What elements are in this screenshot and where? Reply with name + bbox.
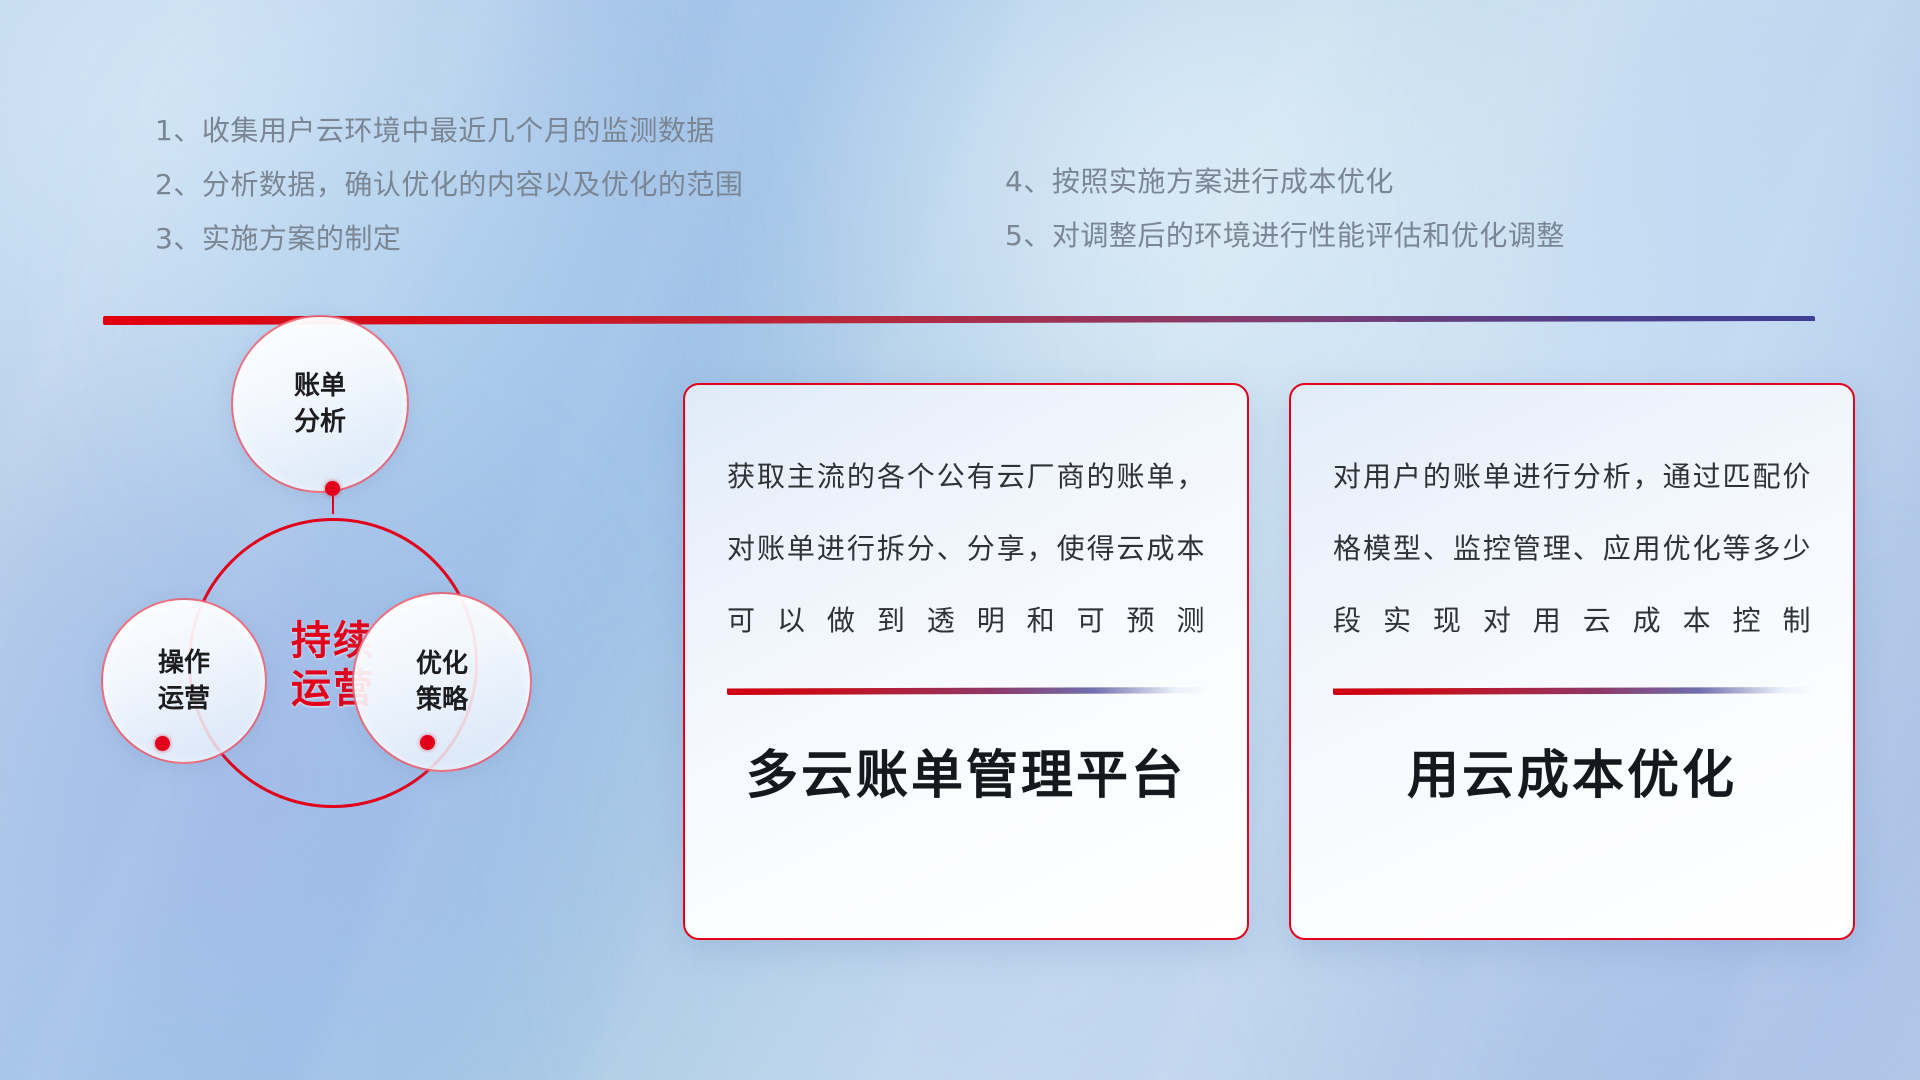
card-title: 多云账单管理平台	[727, 733, 1205, 808]
bubble-label-line1: 操作	[158, 645, 210, 681]
bubble-label-line2: 运营	[158, 681, 210, 717]
node-dot-top	[325, 481, 340, 496]
card-divider	[727, 687, 1209, 695]
card-divider	[1333, 687, 1815, 695]
bubble-optimization-strategy[interactable]: 优化 策略	[352, 592, 532, 772]
connector-tick-top	[332, 496, 334, 514]
card-multicloud-billing-platform[interactable]: 获取主流的各个公有云厂商的账单，对账单进行拆分、分享，使得云成本可以做到透明和可…	[683, 383, 1249, 940]
bubble-label: 优化 策略	[416, 646, 468, 718]
bubble-label: 账单 分析	[294, 368, 346, 440]
node-dot-left	[155, 736, 170, 751]
bubble-label-line2: 策略	[416, 682, 468, 718]
card-body-text: 对用户的账单进行分析，通过匹配价格模型、监控管理、应用优化等多少段实现对用云成本…	[1333, 441, 1811, 657]
step-item: 1、收集用户云环境中最近几个月的监测数据	[155, 104, 743, 158]
step-item: 3、实施方案的制定	[155, 212, 743, 266]
bubble-label-line1: 账单	[294, 368, 346, 404]
card-cloud-cost-optimization[interactable]: 对用户的账单进行分析，通过匹配价格模型、监控管理、应用优化等多少段实现对用云成本…	[1289, 383, 1855, 940]
card-title: 用云成本优化	[1333, 733, 1811, 808]
bubble-label: 操作 运营	[158, 645, 210, 717]
steps-right-column: 4、按照实施方案进行成本优化 5、对调整后的环境进行性能评估和优化调整	[1005, 155, 1565, 263]
bubble-label-line2: 分析	[294, 404, 346, 440]
bubble-bill-analysis[interactable]: 账单 分析	[231, 315, 409, 493]
steps-left-column: 1、收集用户云环境中最近几个月的监测数据 2、分析数据，确认优化的内容以及优化的…	[155, 104, 743, 266]
step-item: 2、分析数据，确认优化的内容以及优化的范围	[155, 158, 743, 212]
bubble-operations[interactable]: 操作 运营	[101, 598, 267, 764]
node-dot-right	[420, 735, 435, 750]
card-content: 获取主流的各个公有云厂商的账单，对账单进行拆分、分享，使得云成本可以做到透明和可…	[685, 385, 1247, 938]
bubble-label-line1: 优化	[416, 646, 468, 682]
continuous-operation-diagram: 持续 运营 账单 分析 操作 运营 优化 策略	[100, 340, 560, 960]
step-item: 4、按照实施方案进行成本优化	[1005, 155, 1565, 209]
step-item: 5、对调整后的环境进行性能评估和优化调整	[1005, 209, 1565, 263]
card-content: 对用户的账单进行分析，通过匹配价格模型、监控管理、应用优化等多少段实现对用云成本…	[1291, 385, 1853, 938]
card-body-text: 获取主流的各个公有云厂商的账单，对账单进行拆分、分享，使得云成本可以做到透明和可…	[727, 441, 1205, 657]
